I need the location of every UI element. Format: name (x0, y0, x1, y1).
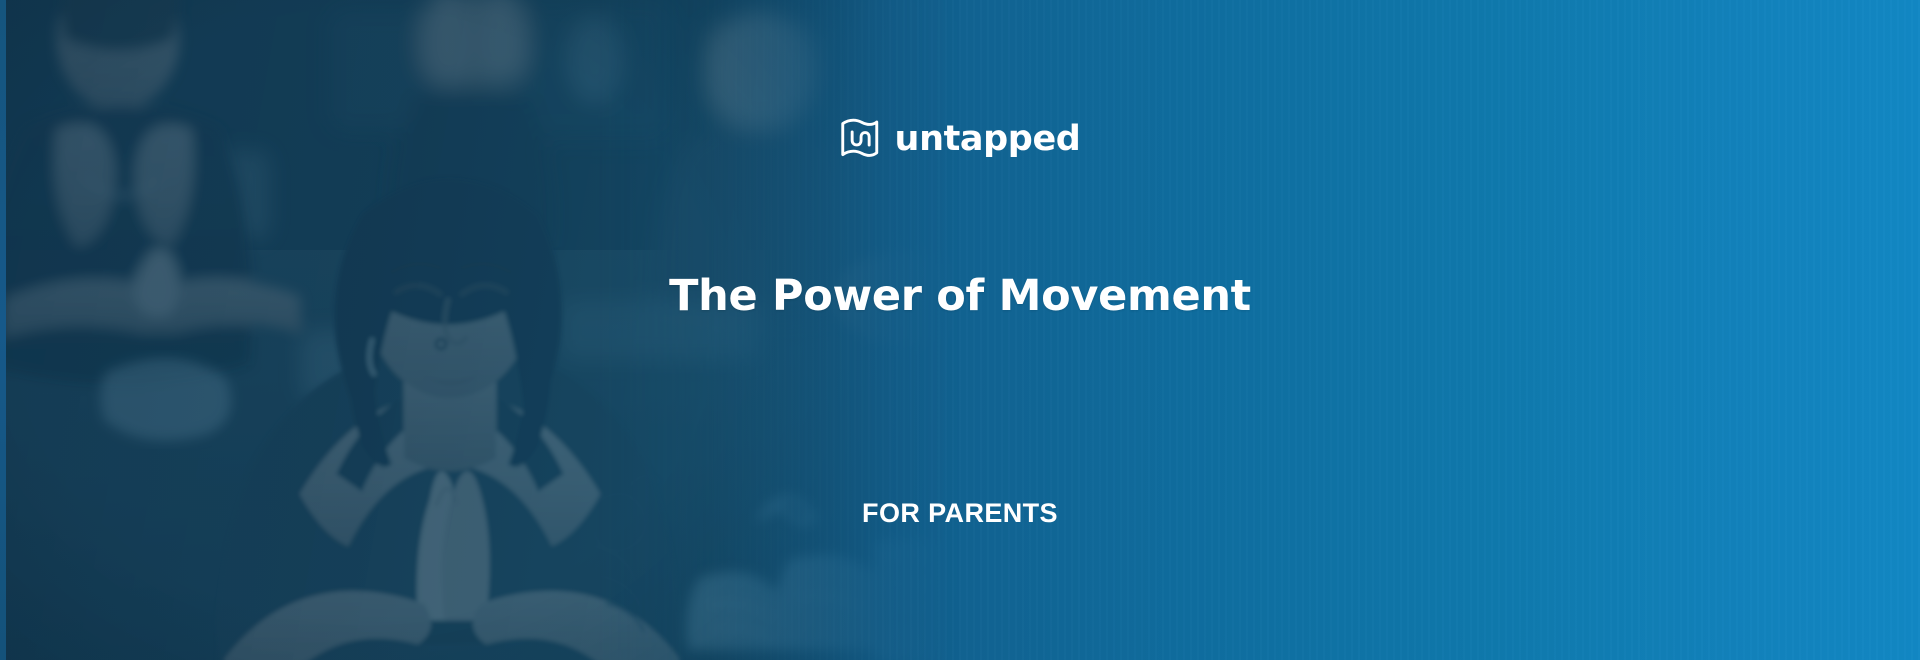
hero-banner: untapped The Power of Movement FOR PAREN… (0, 0, 1920, 660)
untapped-logo[interactable]: untapped (840, 118, 1081, 160)
untapped-wordmark: untapped (895, 122, 1081, 157)
audience-kicker: FOR PARENTS (862, 500, 1058, 527)
hero-background-photo (0, 0, 960, 660)
untapped-flag-monogram-icon (840, 118, 880, 160)
photo-vignette (0, 0, 960, 660)
page-title: The Power of Movement (650, 272, 1270, 322)
left-edge-strip (0, 0, 6, 660)
